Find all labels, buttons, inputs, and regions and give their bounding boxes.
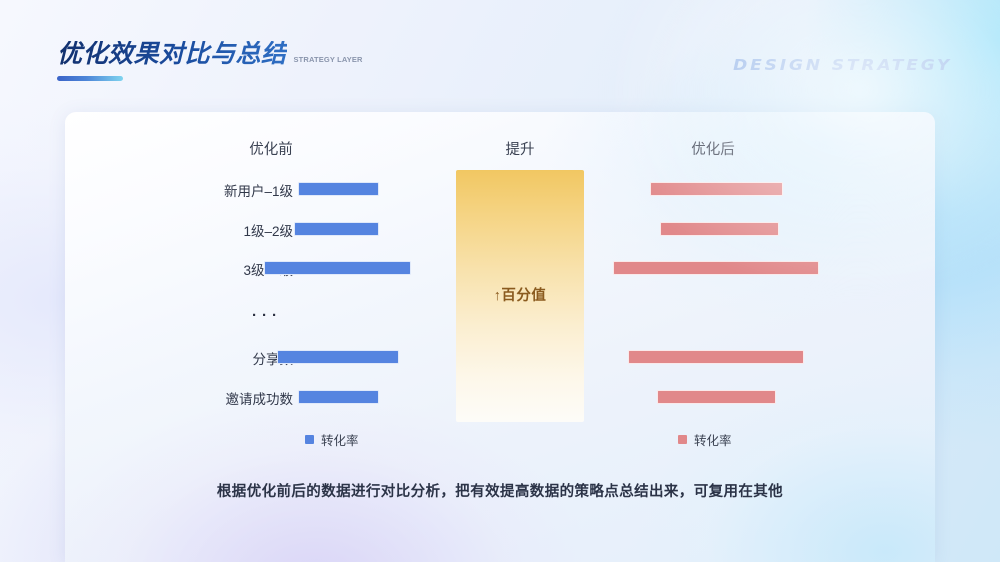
- comparison-chart: 优化前 提升 优化后 ↑百分值 新用户–1级 1级–2级 3级–4级: [65, 112, 935, 562]
- legend-after: 转化率: [678, 430, 732, 449]
- page-subtitle: STRATEGY LAYER: [294, 55, 363, 67]
- bar-before: [277, 350, 399, 364]
- bar-after: [613, 261, 819, 275]
- bar-before: [298, 182, 379, 196]
- row-label: 新用户–1级: [224, 180, 293, 200]
- bar-after: [628, 350, 804, 364]
- column-header-before: 优化前: [249, 138, 293, 159]
- title-accent-bar: [57, 76, 123, 81]
- row-label: 邀请成功数: [226, 388, 294, 408]
- page-title: 优化效果对比与总结: [57, 41, 287, 67]
- bar-before: [264, 261, 411, 275]
- lift-panel-label: ↑百分值: [456, 284, 584, 305]
- legend-label: 转化率: [321, 430, 359, 449]
- legend-before: 转化率: [305, 430, 359, 449]
- brand-label: DESIGN STRATEGY: [733, 56, 952, 74]
- summary-caption: 根据优化前后的数据进行对比分析，把有效提高数据的策略点总结出来，可复用在其他: [65, 480, 935, 501]
- slide-canvas: 优化效果对比与总结 STRATEGY LAYER DESIGN STRATEGY…: [0, 0, 1000, 562]
- content-card: 优化前 提升 优化后 ↑百分值 新用户–1级 1级–2级 3级–4级: [65, 112, 935, 562]
- row-label-ellipsis: ···: [241, 308, 293, 323]
- row-label: 1级–2级: [243, 220, 293, 240]
- bar-before: [294, 222, 379, 236]
- legend-label: 转化率: [694, 430, 732, 449]
- slide-header: 优化效果对比与总结 STRATEGY LAYER: [57, 41, 363, 81]
- bar-after: [650, 182, 783, 196]
- legend-swatch-red-icon: [678, 435, 687, 444]
- column-header-after: 优化后: [691, 138, 735, 159]
- legend-swatch-blue-icon: [305, 435, 314, 444]
- bar-after: [657, 390, 776, 404]
- title-row: 优化效果对比与总结 STRATEGY LAYER: [57, 41, 363, 67]
- bar-after: [660, 222, 779, 236]
- bar-before: [298, 390, 379, 404]
- column-header-lift: 提升: [506, 138, 535, 159]
